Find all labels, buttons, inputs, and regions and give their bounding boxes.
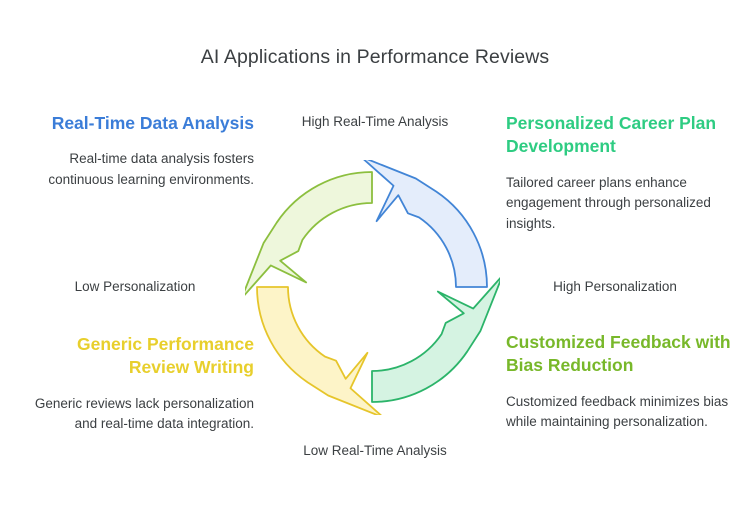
quadrant-real-time-data-analysis: Real-Time Data Analysis Real-time data a… (22, 112, 254, 190)
quadrant-body: Tailored career plans enhance engagement… (506, 173, 738, 235)
quadrant-body: Generic reviews lack personalization and… (22, 394, 254, 435)
quadrant-generic-performance-review-writing: Generic Performance Review Writing Gener… (22, 333, 254, 435)
quadrant-body: Real-time data analysis fosters continuo… (22, 149, 254, 190)
axis-label-left: Low Personalization (30, 279, 240, 294)
cycle-segment-bottom-left (257, 287, 383, 415)
axis-label-bottom: Low Real-Time Analysis (0, 443, 750, 458)
quadrant-heading: Customized Feedback with Bias Reduction (506, 331, 738, 378)
page-title: AI Applications in Performance Reviews (0, 46, 750, 69)
axis-label-right: High Personalization (510, 279, 720, 294)
infographic-canvas: AI Applications in Performance Reviews H… (0, 0, 750, 525)
quadrant-heading: Real-Time Data Analysis (22, 112, 254, 135)
quadrant-personalized-career-plan-development: Personalized Career Plan Development Tai… (506, 112, 738, 234)
quadrant-heading: Generic Performance Review Writing (22, 333, 254, 380)
cycle-segment-top-right (361, 160, 487, 287)
cycle-diagram-svg (245, 160, 500, 415)
cycle-segment-bottom-right (372, 276, 500, 402)
quadrant-customized-feedback-with-bias-reduction: Customized Feedback with Bias Reduction … (506, 331, 738, 433)
quadrant-heading: Personalized Career Plan Development (506, 112, 738, 159)
quadrant-body: Customized feedback minimizes bias while… (506, 392, 738, 433)
cycle-segment-top-left (245, 172, 372, 298)
cycle-diagram (245, 160, 500, 415)
